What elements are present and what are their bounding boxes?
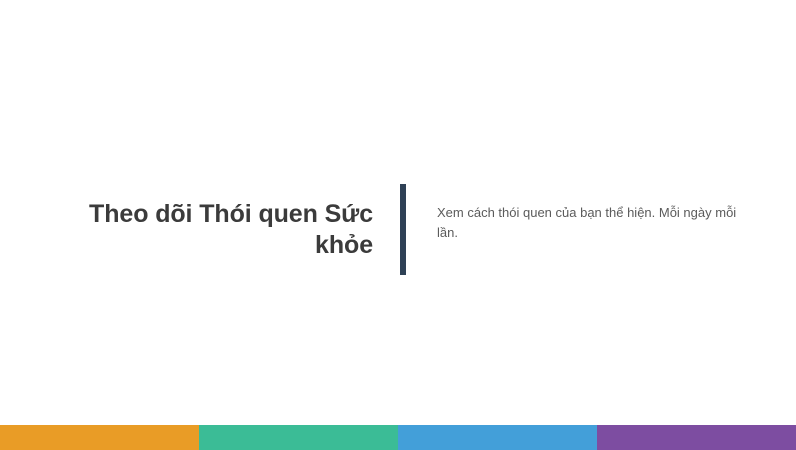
body-block: Xem cách thói quen của bạn thể hiện. Mỗi…: [437, 203, 742, 243]
footer-band-blue: [398, 425, 597, 450]
presentation-slide: Theo dõi Thói quen Sức khỏe Xem cách thó…: [0, 0, 796, 450]
vertical-accent-bar: [400, 184, 406, 275]
footer-color-band: [0, 425, 796, 450]
slide-body-text: Xem cách thói quen của bạn thể hiện. Mỗi…: [437, 203, 742, 243]
page-title: Theo dõi Thói quen Sức khỏe: [60, 199, 373, 262]
footer-band-orange: [0, 425, 199, 450]
footer-band-teal: [199, 425, 398, 450]
footer-band-purple: [597, 425, 796, 450]
title-block: Theo dõi Thói quen Sức khỏe: [60, 184, 373, 276]
